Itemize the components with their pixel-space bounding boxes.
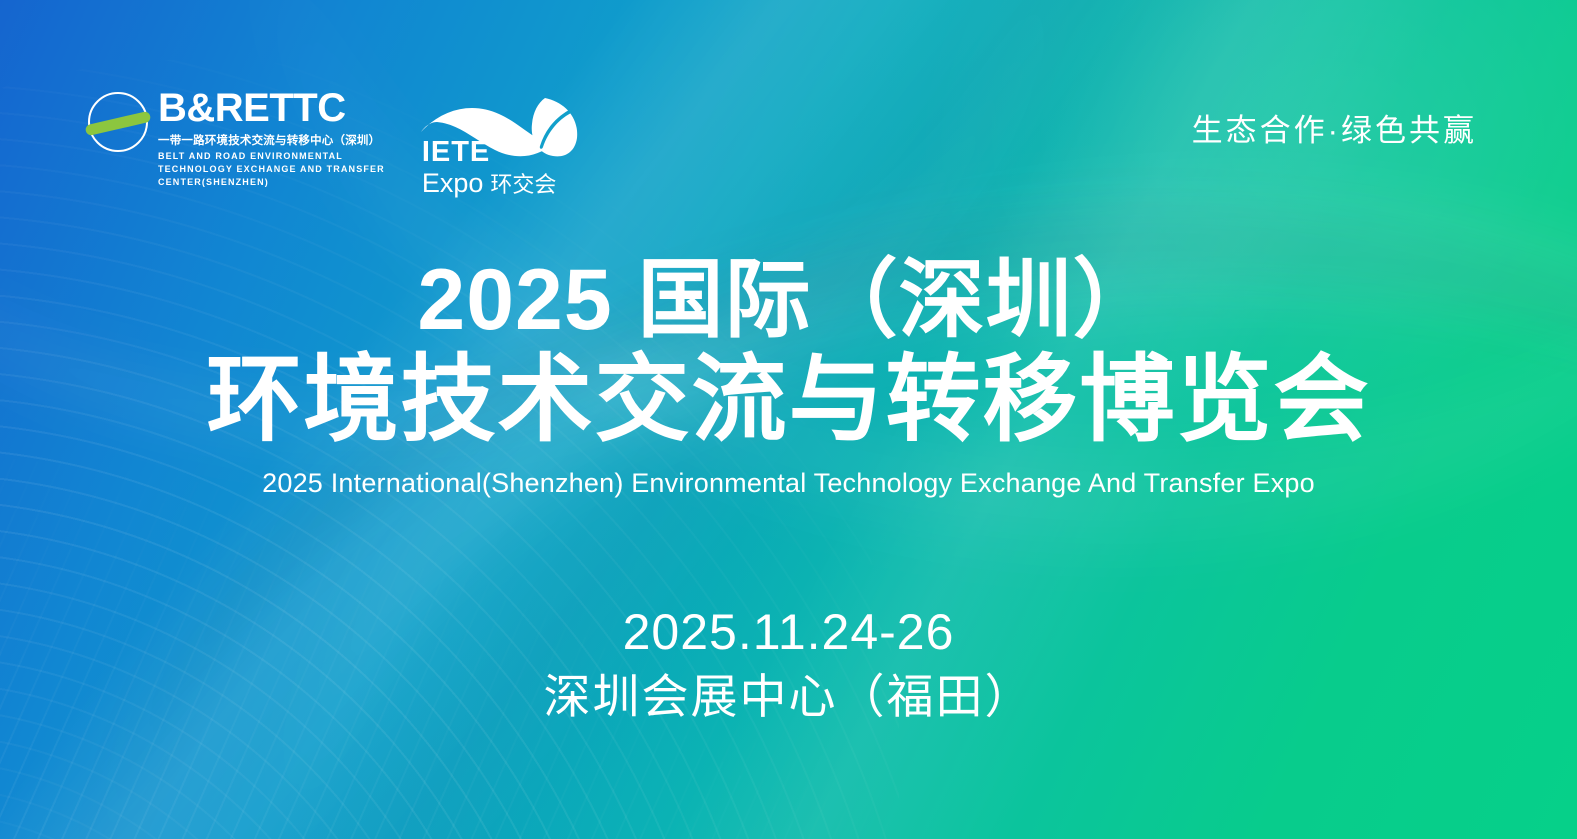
title-line-1: 2025 国际（深圳） — [0, 256, 1577, 345]
iete-expo-logo: IETE Expo环交会 — [419, 88, 594, 198]
iete-logo-sub-cn: 环交会 — [490, 172, 556, 197]
logo-group: B&RETTC 一带一路环境技术交流与转移中心（深圳） BELT AND ROA… — [88, 88, 594, 198]
brettc-logo-english-2: TECHNOLOGY EXCHANGE AND TRANSFER — [158, 163, 385, 176]
slogan-text: 生态合作·绿色共赢 — [1192, 105, 1477, 150]
title-block: 2025 国际（深圳） 环境技术交流与转移博览会 2025 Internatio… — [0, 256, 1577, 499]
brettc-logo-english-3: CENTER(SHENZHEN) — [158, 176, 385, 189]
iete-logo-main: IETE — [422, 138, 557, 167]
brettc-logo-english-1: BELT AND ROAD ENVIRONMENTAL — [158, 150, 385, 163]
event-venue: 深圳会展中心（福田） — [0, 668, 1577, 727]
title-english: 2025 International(Shenzhen) Environment… — [0, 468, 1577, 499]
iete-logo-sub: Expo — [422, 168, 484, 198]
event-banner: B&RETTC 一带一路环境技术交流与转移中心（深圳） BELT AND ROA… — [0, 0, 1577, 839]
event-meta: 2025.11.24-26 深圳会展中心（福田） — [0, 602, 1577, 727]
brettc-logo-chinese: 一带一路环境技术交流与转移中心（深圳） — [158, 132, 385, 148]
globe-icon — [88, 92, 148, 152]
brettc-logo: B&RETTC 一带一路环境技术交流与转移中心（深圳） BELT AND ROA… — [88, 88, 385, 189]
event-date: 2025.11.24-26 — [0, 602, 1577, 662]
brettc-logo-name: B&RETTC — [158, 88, 385, 128]
title-line-2: 环境技术交流与转移博览会 — [0, 349, 1577, 452]
